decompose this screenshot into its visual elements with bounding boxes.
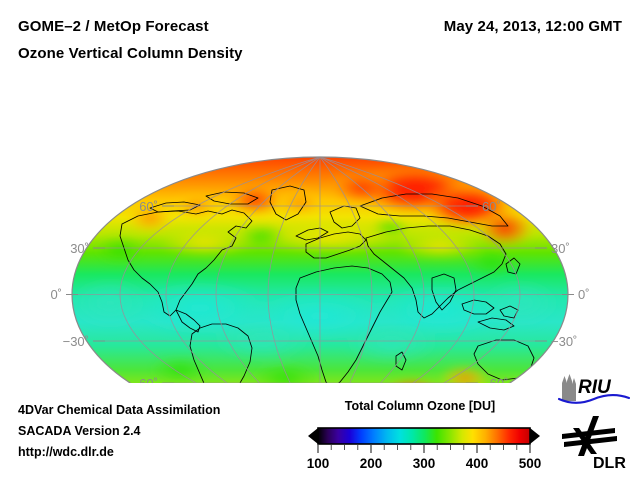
ozone-map-panel: 60˚ 30˚ 0˚ −30˚ −60˚ 60˚ 30˚ 0˚ −30˚ −60… (0, 78, 640, 383)
lat-label-right-m60: −60˚ (482, 376, 508, 383)
lat-label-left-m60: −60˚ (132, 376, 158, 383)
colorbar-tick-300: 300 (413, 456, 436, 471)
lat-label-left-m30: −30˚ (63, 334, 89, 349)
lat-label-right-0: 0˚ (578, 287, 590, 302)
colorbar-gradient (318, 428, 530, 444)
lat-label-left-0: 0˚ (50, 287, 62, 302)
dlr-logo: DLR (559, 414, 631, 472)
page-subtitle: Ozone Vertical Column Density (18, 45, 243, 62)
colorbar-tick-200: 200 (360, 456, 383, 471)
lat-label-right-m30: −30˚ (551, 334, 577, 349)
dlr-logo-text: DLR (593, 455, 626, 472)
colorbar-major-ticks (318, 445, 530, 453)
colorbar-title: Total Column Ozone [DU] (306, 399, 534, 413)
ozone-map: 60˚ 30˚ 0˚ −30˚ −60˚ 60˚ 30˚ 0˚ −30˚ −60… (0, 78, 640, 383)
riu-logo: RIU (556, 373, 632, 409)
lat-label-right-60: 60˚ (482, 199, 501, 214)
colorbar-tick-100: 100 (307, 456, 330, 471)
dlr-mark-icon (562, 416, 617, 456)
page-title: GOME–2 / MetOp Forecast (18, 18, 209, 35)
colorbar-tick-400: 400 (466, 456, 489, 471)
colorbar-extend-left (308, 428, 318, 444)
lat-label-left-60: 60˚ (139, 199, 158, 214)
footer-credits: 4DVar Chemical Data Assimilation SACADA … (18, 400, 220, 463)
colorbar-tick-500: 500 (519, 456, 542, 471)
riu-tower-icon (562, 374, 576, 401)
colorbar-block: Total Column Ozone [DU] (306, 399, 546, 477)
footer-line-method: 4DVar Chemical Data Assimilation (18, 400, 220, 421)
lat-label-right-30: 30˚ (551, 241, 570, 256)
colorbar: 100 200 300 400 500 (306, 417, 542, 475)
colorbar-tick-labels: 100 200 300 400 500 (307, 456, 542, 471)
footer-line-url[interactable]: http://wdc.dlr.de (18, 442, 220, 463)
footer-line-version: SACADA Version 2.4 (18, 421, 220, 442)
lat-label-left-30: 30˚ (70, 241, 89, 256)
forecast-datetime: May 24, 2013, 12:00 GMT (444, 18, 622, 35)
colorbar-extend-right (530, 428, 540, 444)
